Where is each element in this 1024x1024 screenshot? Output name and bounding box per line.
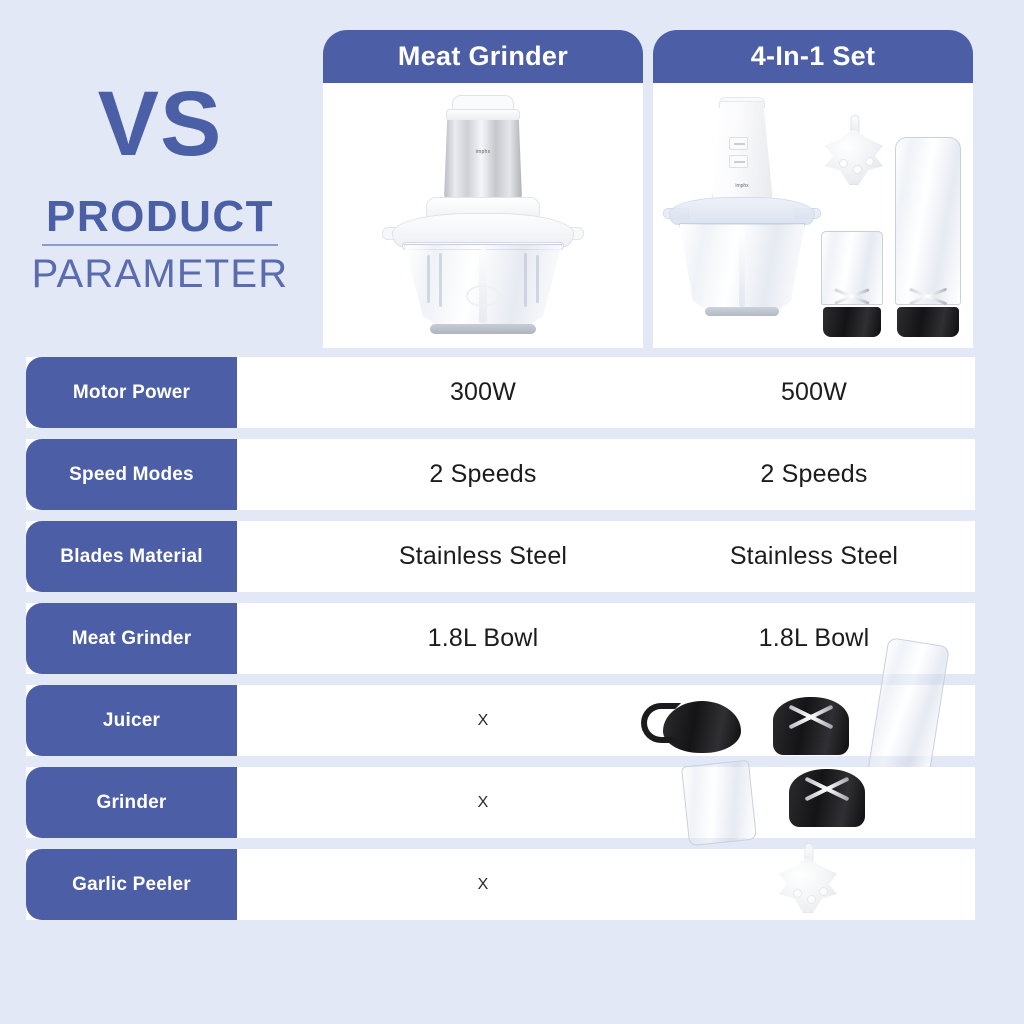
- column-header-meat-grinder: Meat Grinder imphx: [323, 30, 643, 348]
- grinder-blade-base: [789, 769, 865, 827]
- cell-speed-modes-col1: 2 Speeds: [322, 439, 644, 510]
- cell-meat-grinder-col2: 1.8L Bowl: [653, 603, 975, 674]
- table-row: Meat Grinder 1.8L Bowl 1.8L Bowl: [0, 603, 1024, 674]
- chopper-button-low: [729, 155, 748, 168]
- chopper-lid: [669, 197, 815, 225]
- hero-block: VS PRODUCT PARAMETER: [0, 78, 320, 296]
- table-row: Juicer X: [0, 685, 1024, 756]
- cell-speed-modes-col2: 2 Speeds: [653, 439, 975, 510]
- juicer-bottle-blade-base: [897, 307, 959, 337]
- column-title-bar-1: Meat Grinder: [323, 30, 643, 83]
- grinder-cup: [681, 760, 757, 847]
- row-label-blades-material: Blades Material: [26, 521, 237, 592]
- table-row: Grinder X: [0, 767, 1024, 838]
- set-chopper-unit: imphx: [667, 101, 817, 341]
- grinder-blade: [466, 285, 500, 307]
- row-label-motor-power: Motor Power: [26, 357, 237, 428]
- brand-logo-mark-set: imphx: [735, 183, 748, 189]
- grinder-collar: [446, 109, 520, 121]
- row-label-speed-modes: Speed Modes: [26, 439, 237, 510]
- juicer-blade-base: [773, 697, 849, 755]
- grinder-motor-housing: [444, 120, 522, 200]
- peeler-body: [825, 129, 883, 185]
- table-row: Garlic Peeler X: [0, 849, 1024, 920]
- grinder-cup-blade: [833, 289, 870, 303]
- cell-juicer-col2: [653, 685, 975, 756]
- four-in-one-illustration: imphx: [659, 91, 967, 346]
- juicer-blades: [787, 707, 835, 727]
- chopper-bowl-base: [705, 307, 779, 316]
- chopper-blade-shaft: [739, 229, 745, 307]
- page-title-parameter: PARAMETER: [0, 252, 320, 296]
- grinder-bowl-base: [430, 324, 536, 334]
- table-row: Speed Modes 2 Speeds 2 Speeds: [0, 439, 1024, 510]
- cell-blades-material-col1: Stainless Steel: [322, 521, 644, 592]
- cell-garlic-peeler-col2: [653, 849, 975, 920]
- comparison-infographic: VS PRODUCT PARAMETER Meat Grinder imphx: [0, 0, 1024, 1024]
- garlic-peeler-item: [771, 843, 847, 927]
- page-title-product: PRODUCT: [42, 194, 278, 246]
- cell-garlic-peeler-col1: X: [322, 849, 644, 920]
- juicer-bottle-blade: [908, 289, 948, 303]
- vs-heading: VS: [0, 78, 320, 170]
- row-label-garlic-peeler: Garlic Peeler: [26, 849, 237, 920]
- table-row: Motor Power 300W 500W: [0, 357, 1024, 428]
- set-garlic-peeler: [817, 115, 893, 193]
- cell-grinder-col2: [653, 767, 975, 838]
- cell-motor-power-col2: 500W: [653, 357, 975, 428]
- column-header-four-in-one: 4-In-1 Set imphx: [653, 30, 973, 348]
- garlic-peeler-accessory-art: [753, 843, 863, 939]
- juicer-lid: [663, 701, 741, 753]
- set-juicer-bottle: [895, 137, 961, 337]
- product-image-meat-grinder: imphx: [323, 83, 643, 348]
- cell-grinder-col1: X: [322, 767, 644, 838]
- juicer-accessory-art: [641, 679, 971, 779]
- table-row: Blades Material Stainless Steel Stainles…: [0, 521, 1024, 592]
- comparison-table: Motor Power 300W 500W Speed Modes 2 Spee…: [0, 357, 1024, 931]
- grinder-accessory-art: [641, 759, 971, 859]
- grinder-cup-blade-base: [823, 307, 881, 337]
- column-title-2: 4-In-1 Set: [751, 41, 876, 72]
- set-grinder-cup: [821, 231, 883, 337]
- row-label-meat-grinder: Meat Grinder: [26, 603, 237, 674]
- meat-grinder-illustration: imphx: [368, 93, 598, 343]
- cell-juicer-col1: X: [322, 685, 644, 756]
- column-title-1: Meat Grinder: [398, 41, 568, 72]
- product-image-four-in-one: imphx: [653, 83, 973, 348]
- grinder-blades: [803, 779, 851, 799]
- row-label-grinder: Grinder: [26, 767, 237, 838]
- column-title-bar-2: 4-In-1 Set: [653, 30, 973, 83]
- cell-meat-grinder-col1: 1.8L Bowl: [322, 603, 644, 674]
- chopper-button-high: [729, 137, 748, 150]
- cell-motor-power-col1: 300W: [322, 357, 644, 428]
- cell-blades-material-col2: Stainless Steel: [653, 521, 975, 592]
- brand-logo-mark: imphx: [476, 149, 491, 155]
- row-label-juicer: Juicer: [26, 685, 237, 756]
